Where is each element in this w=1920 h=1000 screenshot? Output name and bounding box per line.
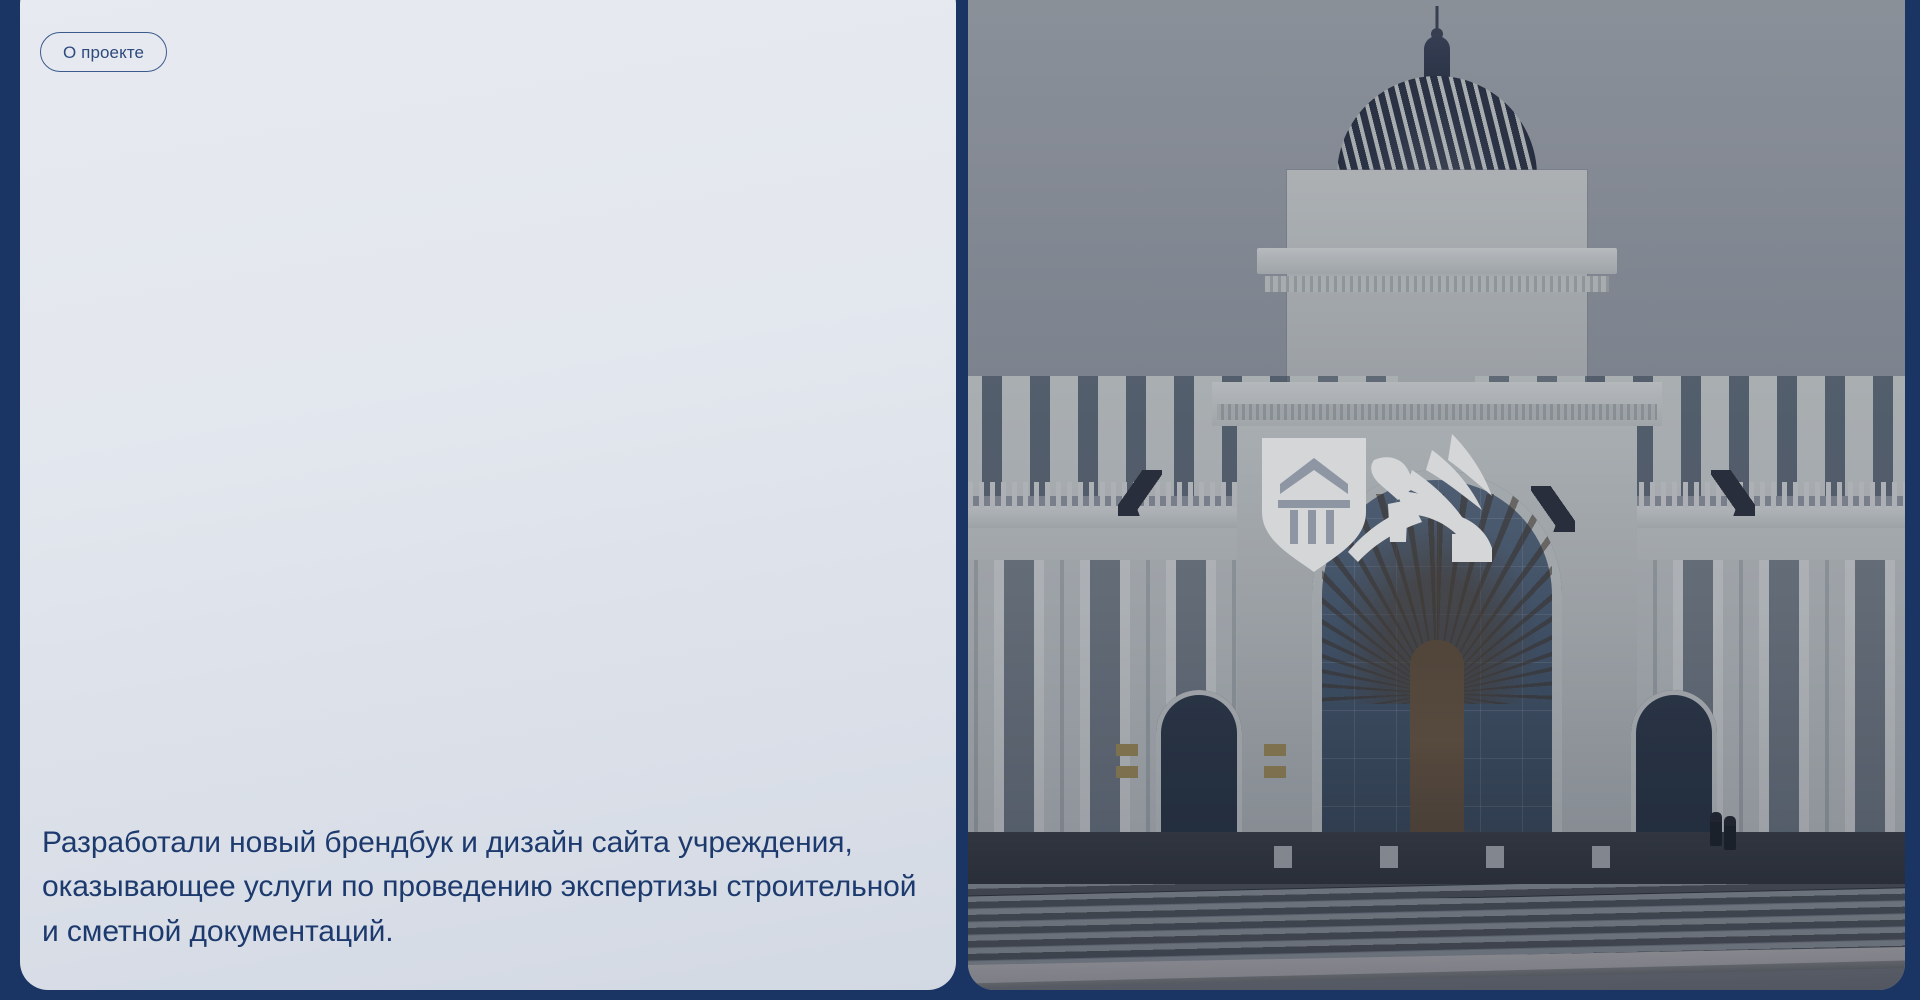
- temple-column-gap: [1308, 510, 1316, 544]
- left-card-inner: О проекте Разработали новый брендбук и д…: [20, 0, 956, 990]
- door-plaque: [1264, 744, 1286, 756]
- pedestrian: [1724, 816, 1736, 850]
- pedestrian: [1710, 812, 1722, 846]
- project-lead-text: Разработали новый брендбук и дизайн сайт…: [42, 821, 922, 954]
- tower-band: [1265, 276, 1609, 292]
- horse-statue-icon: [1711, 470, 1755, 516]
- horse-statue-icon: [1531, 486, 1575, 532]
- arch-frieze: [1217, 404, 1657, 420]
- winged-griffin-icon: [1348, 434, 1492, 562]
- temple-column-gap: [1326, 510, 1334, 544]
- podium-plaque: [1380, 846, 1398, 868]
- door-plaque: [1116, 766, 1138, 778]
- page-root: О проекте Разработали новый брендбук и д…: [0, 0, 1920, 1000]
- tower-cornice: [1257, 248, 1617, 274]
- podium-plaque: [1592, 846, 1610, 868]
- about-project-button[interactable]: О проекте: [40, 32, 167, 72]
- project-image-inner: [968, 0, 1905, 990]
- project-image-card: [968, 0, 1905, 990]
- horse-statue-icon: [1118, 470, 1162, 516]
- griffin-shield-logo: [1256, 430, 1536, 580]
- door-plaque: [1264, 766, 1286, 778]
- temple-column-gap: [1290, 510, 1298, 544]
- podium-plaque: [1486, 846, 1504, 868]
- temple-architrave-cutout: [1278, 500, 1350, 508]
- left-content-card: О проекте Разработали новый брендбук и д…: [20, 0, 956, 990]
- door-plaque: [1116, 744, 1138, 756]
- podium-plaque: [1274, 846, 1292, 868]
